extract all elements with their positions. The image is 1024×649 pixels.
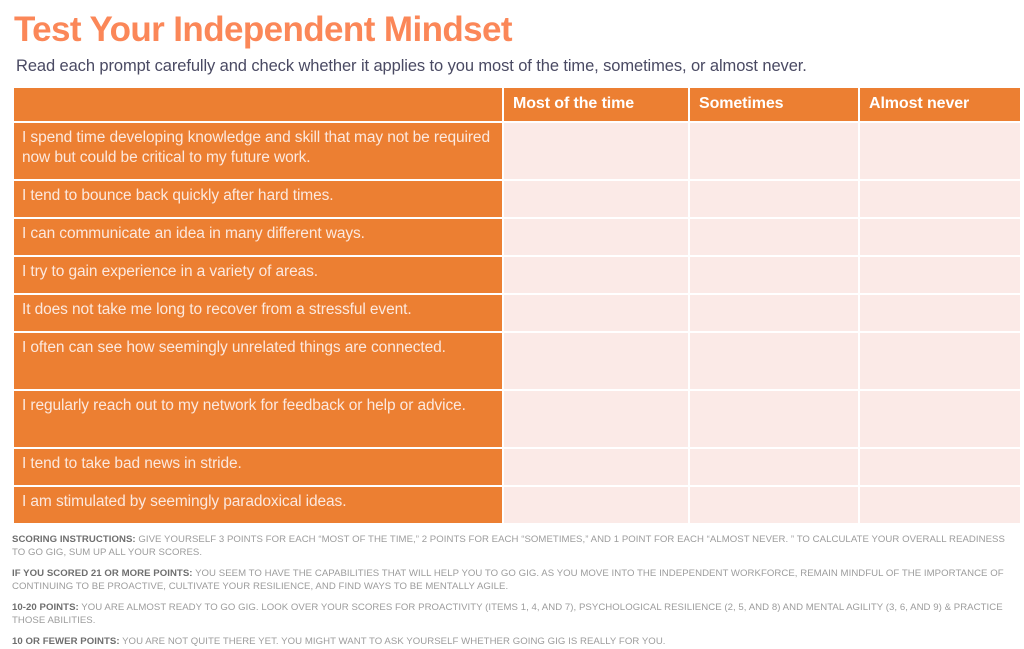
prompt-cell: I try to gain experience in a variety of… <box>14 257 502 293</box>
prompt-cell: It does not take me long to recover from… <box>14 295 502 331</box>
table-row: It does not take me long to recover from… <box>14 295 1020 331</box>
answer-cell-sometimes[interactable] <box>690 181 858 217</box>
column-header-sometimes: Sometimes <box>690 88 858 121</box>
answer-cell-sometimes[interactable] <box>690 123 858 179</box>
answer-cell-sometimes[interactable] <box>690 333 858 389</box>
note-label: SCORING INSTRUCTIONS: <box>12 534 136 545</box>
table-body: I spend time developing knowledge and sk… <box>14 123 1020 523</box>
answer-cell-never[interactable] <box>860 181 1020 217</box>
page-subtitle: Read each prompt carefully and check whe… <box>0 50 1024 76</box>
answer-cell-sometimes[interactable] <box>690 449 858 485</box>
answer-cell-most[interactable] <box>504 295 688 331</box>
note-21-or-more: IF YOU SCORED 21 OR MORE POINTS: YOU SEE… <box>12 568 1012 593</box>
note-label: 10 OR FEWER POINTS: <box>12 636 120 647</box>
page-title: Test Your Independent Mindset <box>0 0 1024 50</box>
table-row: I tend to bounce back quickly after hard… <box>14 181 1020 217</box>
answer-cell-most[interactable] <box>504 487 688 523</box>
note-10-or-fewer: 10 OR FEWER POINTS: YOU ARE NOT QUITE TH… <box>12 636 1012 649</box>
answer-cell-never[interactable] <box>860 295 1020 331</box>
answer-cell-never[interactable] <box>860 333 1020 389</box>
answer-cell-never[interactable] <box>860 257 1020 293</box>
answer-cell-never[interactable] <box>860 219 1020 255</box>
answer-cell-sometimes[interactable] <box>690 487 858 523</box>
column-header-most-of-the-time: Most of the time <box>504 88 688 121</box>
table-row: I regularly reach out to my network for … <box>14 391 1020 447</box>
prompt-cell: I regularly reach out to my network for … <box>14 391 502 447</box>
answer-cell-most[interactable] <box>504 219 688 255</box>
table-row: I am stimulated by seemingly paradoxical… <box>14 487 1020 523</box>
table-row: I spend time developing knowledge and sk… <box>14 123 1020 179</box>
note-scoring-instructions: SCORING INSTRUCTIONS: GIVE YOURSELF 3 PO… <box>12 534 1012 559</box>
table-header: Most of the time Sometimes Almost never <box>14 88 1020 121</box>
answer-cell-never[interactable] <box>860 123 1020 179</box>
table-row: I tend to take bad news in stride. <box>14 449 1020 485</box>
prompt-cell: I tend to bounce back quickly after hard… <box>14 181 502 217</box>
table-row: I try to gain experience in a variety of… <box>14 257 1020 293</box>
prompt-cell: I tend to take bad news in stride. <box>14 449 502 485</box>
answer-cell-sometimes[interactable] <box>690 391 858 447</box>
answer-cell-most[interactable] <box>504 449 688 485</box>
note-10-to-20: 10-20 POINTS: YOU ARE ALMOST READY TO GO… <box>12 602 1012 627</box>
column-header-prompt <box>14 88 502 121</box>
answer-cell-sometimes[interactable] <box>690 295 858 331</box>
answer-cell-most[interactable] <box>504 123 688 179</box>
answer-cell-sometimes[interactable] <box>690 257 858 293</box>
answer-cell-never[interactable] <box>860 487 1020 523</box>
answer-cell-most[interactable] <box>504 391 688 447</box>
answer-cell-sometimes[interactable] <box>690 219 858 255</box>
answer-cell-most[interactable] <box>504 257 688 293</box>
note-label: 10-20 POINTS: <box>12 602 79 613</box>
quiz-page: Test Your Independent Mindset Read each … <box>0 0 1024 544</box>
prompt-cell: I spend time developing knowledge and sk… <box>14 123 502 179</box>
table-row: I can communicate an idea in many differ… <box>14 219 1020 255</box>
answer-cell-never[interactable] <box>860 449 1020 485</box>
prompt-cell: I often can see how seemingly unrelated … <box>14 333 502 389</box>
note-text: GIVE YOURSELF 3 POINTS FOR EACH “MOST OF… <box>12 534 1005 558</box>
answer-cell-most[interactable] <box>504 181 688 217</box>
answer-cell-most[interactable] <box>504 333 688 389</box>
note-label: IF YOU SCORED 21 OR MORE POINTS: <box>12 568 193 579</box>
prompt-cell: I can communicate an idea in many differ… <box>14 219 502 255</box>
answer-cell-never[interactable] <box>860 391 1020 447</box>
prompt-cell: I am stimulated by seemingly paradoxical… <box>14 487 502 523</box>
note-text: YOU ARE ALMOST READY TO GO GIG. LOOK OVE… <box>12 602 1003 626</box>
table-header-row: Most of the time Sometimes Almost never <box>14 88 1020 121</box>
note-text: YOU ARE NOT QUITE THERE YET. YOU MIGHT W… <box>120 636 666 647</box>
table-row: I often can see how seemingly unrelated … <box>14 333 1020 389</box>
column-header-almost-never: Almost never <box>860 88 1020 121</box>
independent-mindset-quiz-table: Most of the time Sometimes Almost never … <box>12 86 1022 525</box>
